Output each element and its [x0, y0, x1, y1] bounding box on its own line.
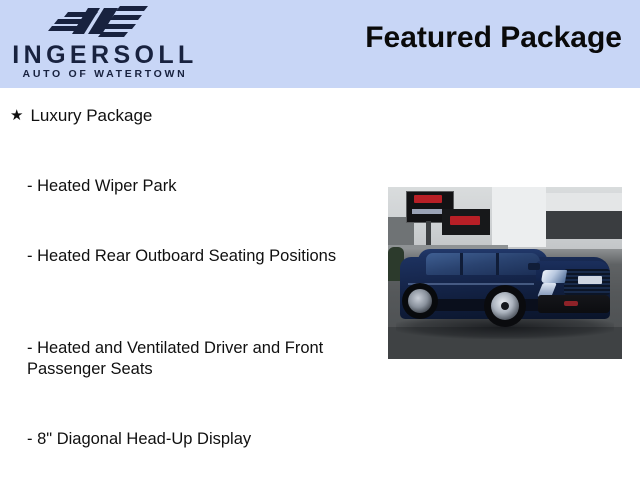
photo-showroom-glass: [546, 211, 622, 239]
photo-gmc-logo-icon: [414, 195, 442, 203]
star-bullet-icon: ★: [10, 107, 23, 124]
photo-dealership-building: [492, 187, 546, 247]
dealer-brand-logo: INGERSOLL AUTO OF WATERTOWN: [0, 0, 210, 88]
photo-vehicle-tow-hook: [564, 301, 578, 306]
vehicle-photo: [388, 187, 622, 359]
ingersoll-wing-emblem-icon: [44, 4, 164, 38]
photo-sign-pole: [426, 221, 431, 247]
photo-vehicle-front-hub: [501, 302, 509, 310]
page-header: INGERSOLL AUTO OF WATERTOWN Featured Pac…: [0, 0, 640, 88]
list-item: - Heated Wiper Park: [27, 176, 357, 197]
feature-label: Luxury Package: [30, 106, 152, 125]
main-content: ★Luxury Package - Heated Wiper Park - He…: [0, 88, 640, 480]
photo-vehicle-headlight: [541, 270, 567, 283]
photo-dealer-sign-text: [412, 209, 444, 214]
photo-vehicle-b-pillar: [460, 253, 463, 275]
photo-vehicle-windows: [426, 253, 540, 275]
page-title: Featured Package: [365, 20, 622, 56]
list-item: - Heated and Ventilated Driver and Front…: [27, 338, 357, 380]
photo-vehicle-rear-rim: [408, 289, 432, 313]
brand-subtitle: AUTO OF WATERTOWN: [7, 69, 203, 80]
brand-name: INGERSOLL: [7, 43, 203, 68]
list-item: - Heated Rear Outboard Seating Positions: [27, 246, 357, 267]
photo-vehicle-grille-badge: [578, 276, 602, 284]
list-item: - 8" Diagonal Head-Up Display: [27, 429, 357, 450]
photo-vehicle-mirror: [528, 263, 540, 270]
list-item-luxury-package: ★Luxury Package: [10, 106, 152, 126]
photo-gmc-logo-building-icon: [450, 216, 480, 225]
photo-vehicle-a-pillar: [496, 253, 499, 275]
